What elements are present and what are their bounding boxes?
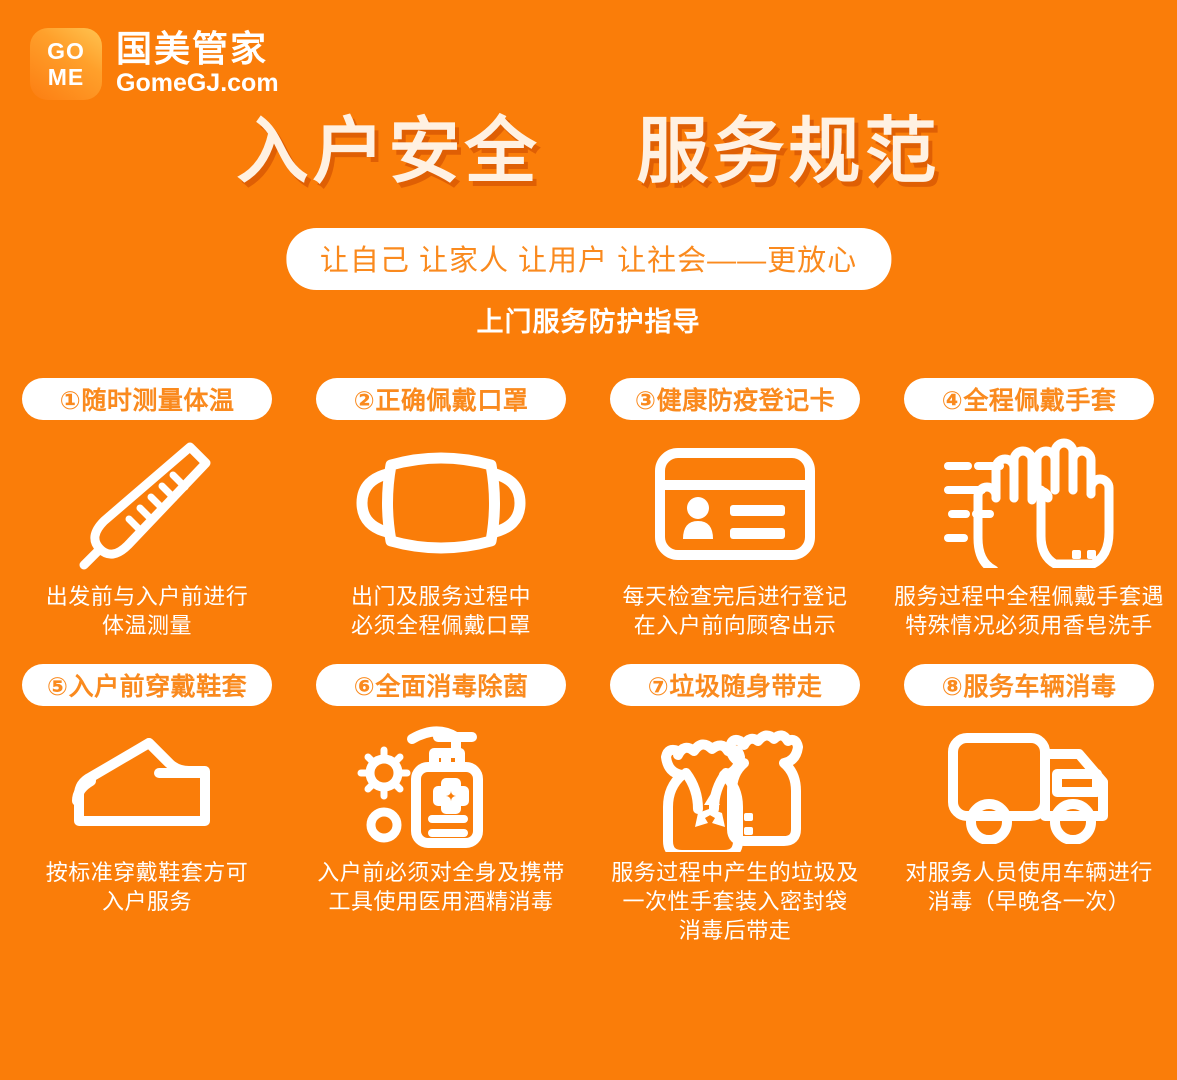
item-caption: 出发前与入户前进行 体温测量 — [46, 582, 249, 640]
thermometer-icon — [72, 428, 222, 578]
shoe-cover-icon — [57, 714, 237, 854]
brand-name-cn: 国美管家 — [116, 30, 279, 68]
gloves-icon — [942, 428, 1117, 578]
trash-bags-icon — [648, 714, 823, 854]
guideline-item-5: ⑤入户前穿戴鞋套 按标准穿戴鞋套方可 入户服务 — [0, 664, 294, 945]
brand-wordmark: 国美管家 GomeGJ.com — [116, 30, 279, 97]
item-badge: ⑥全面消毒除菌 — [316, 664, 566, 706]
item-badge: ②正确佩戴口罩 — [316, 378, 566, 420]
logo-text-go: GO — [47, 40, 85, 63]
guideline-item-3: ③健康防疫登记卡 每天检查完后进行登记 在入户前向顾客出示 — [588, 378, 882, 640]
item-badge: ③健康防疫登记卡 — [610, 378, 860, 420]
item-caption: 出门及服务过程中 必须全程佩戴口罩 — [351, 582, 531, 640]
item-badge: ④全程佩戴手套 — [904, 378, 1154, 420]
item-caption: 入户前必须对全身及携带 工具使用医用酒精消毒 — [317, 858, 565, 916]
item-badge: ①随时测量体温 — [22, 378, 272, 420]
gome-logo-mark: GO ME — [30, 28, 102, 100]
item-caption: 按标准穿戴鞋套方可 入户服务 — [46, 858, 249, 916]
brand-domain: GomeGJ.com — [116, 70, 279, 98]
guideline-item-2: ②正确佩戴口罩 出门及服务过程中 必须全程佩戴口罩 — [294, 378, 588, 640]
brand-logo: GO ME 国美管家 GomeGJ.com — [30, 28, 279, 100]
guideline-item-6: ⑥全面消毒除菌 — [294, 664, 588, 945]
item-caption: 对服务人员使用车辆进行 消毒（早晚各一次） — [905, 858, 1153, 916]
item-badge: ⑤入户前穿戴鞋套 — [22, 664, 272, 706]
guideline-item-4: ④全程佩戴手套 — [882, 378, 1176, 640]
item-badge: ⑧服务车辆消毒 — [904, 664, 1154, 706]
logo-text-me: ME — [48, 66, 85, 89]
guideline-item-8: ⑧服务车辆消毒 对服务人员使用车辆进行 消毒（早晚各一次） — [882, 664, 1176, 945]
item-caption: 每天检查完后进行登记 在入户前向顾客出示 — [622, 582, 847, 640]
delivery-truck-icon — [939, 714, 1119, 854]
face-mask-icon — [346, 428, 536, 578]
subtitle-pill: 让自己 让家人 让用户 让社会——更放心 — [286, 228, 891, 290]
lead-text: 上门服务防护指导 — [0, 300, 1177, 339]
item-badge: ⑦垃圾随身带走 — [610, 664, 860, 706]
guideline-item-7: ⑦垃圾随身带走 服务过程中产生的垃圾及 一次性手套装入密封袋 消毒后带走 — [588, 664, 882, 945]
item-caption: 服务过程中产生的垃圾及 一次性手套装入密封袋 消毒后带走 — [611, 858, 859, 945]
sanitizer-bottle-icon — [354, 714, 529, 854]
guideline-grid: ①随时测量体温 出发前与入户前进行 体温测量 ②正确佩戴口罩 — [0, 378, 1177, 945]
id-card-icon — [650, 428, 820, 578]
guideline-item-1: ①随时测量体温 出发前与入户前进行 体温测量 — [0, 378, 294, 640]
page-title: 入户安全 服务规范 — [0, 116, 1177, 188]
item-caption: 服务过程中全程佩戴手套遇 特殊情况必须用香皂洗手 — [894, 582, 1164, 640]
